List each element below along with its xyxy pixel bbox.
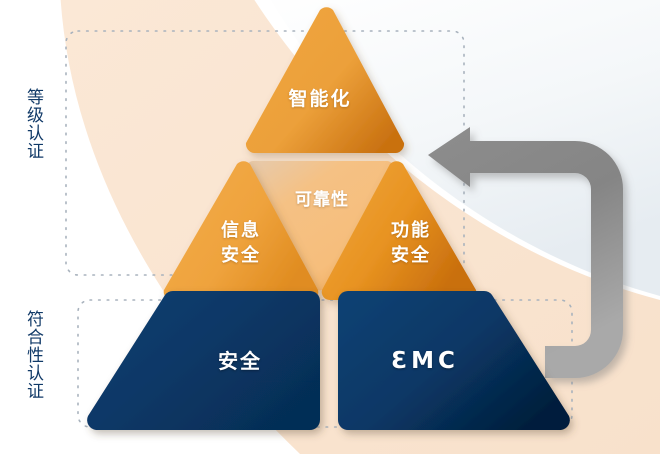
node-smart[interactable] [246,7,404,153]
node-safety[interactable] [87,291,320,430]
section-label-compliance: 符合性认证 [22,310,43,400]
section-label-level: 等级认证 [22,88,43,160]
diagram-artwork [0,0,660,454]
node-emc[interactable] [338,291,570,430]
diagram-canvas: 等级认证 符合性认证 智能化 可靠性 信息 安全 功能 安全 安全 ƐMC [0,0,660,454]
